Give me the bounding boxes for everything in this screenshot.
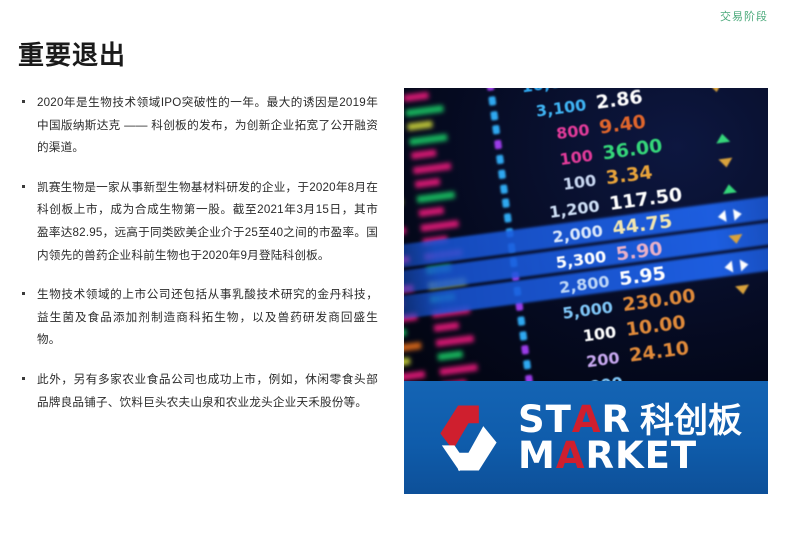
ticker-volume: 10,000: [520, 88, 584, 96]
ticker-trend-arrow: [729, 233, 744, 244]
ticker-trend-arrow: [724, 260, 733, 273]
ticker-trend-arrow: [733, 207, 742, 220]
ticker-volume: 100: [559, 145, 595, 168]
ticker-price: 24.10: [628, 336, 690, 366]
ticker-volume: 800: [555, 120, 591, 143]
stock-ticker-board: 10,00013.603,1002.868009.4010036.001003.…: [404, 88, 768, 381]
list-item: 凯赛生物是一家从事新型生物基材料研发的企业，于2020年8月在科创板上市，成为合…: [18, 177, 378, 267]
blurred-ticker-cell: [421, 219, 460, 231]
ticker-volume: 1,200: [548, 195, 601, 220]
ticker-price: 5.90: [615, 237, 664, 265]
list-item: 2020年是生物技术领域IPO突破性的一年。最大的诱因是2019年中国版纳斯达克…: [18, 92, 378, 160]
ticker-trend-arrow: [717, 210, 726, 223]
blurred-ticker-cell: [411, 149, 437, 159]
blurred-ticker-cell: [438, 350, 464, 360]
blurred-ticker-cell: [404, 341, 422, 352]
blurred-ticker-cell: [413, 161, 452, 173]
blurred-ticker-cell: [405, 104, 444, 116]
ticker-volume: 200: [585, 347, 621, 370]
ticker-price: 3.34: [605, 161, 654, 189]
blurred-ticker-cell: [407, 120, 433, 130]
page-title: 重要退出: [18, 41, 126, 70]
blurred-ticker-cell: [417, 190, 456, 202]
bullet-marker-icon: [22, 292, 25, 295]
blurred-ticker-cell: [436, 334, 475, 346]
list-item: 此外，另有多家农业食品公司也成功上市，例如，休闲零食头部品牌良品铺子、饮料巨头农…: [18, 369, 378, 414]
ticker-volume: 5,000: [561, 297, 614, 322]
list-item-text: 生物技术领域的上市公司还包括从事乳酸技术研究的金丹科技，益生菌及食品添加剂制造商…: [37, 284, 378, 352]
blurred-ticker-cell: [415, 178, 441, 188]
ticker-trend-arrow: [722, 182, 737, 193]
blurred-ticker-cell: [409, 133, 448, 145]
logo-text-a1: A: [572, 402, 602, 438]
ticker-price: 9.40: [598, 110, 647, 138]
list-item-text: 凯赛生物是一家从事新型生物基材料研发的企业，于2020年8月在科创板上市，成为合…: [37, 177, 378, 267]
ticker-trend-arrow: [715, 132, 730, 143]
bullet-marker-icon: [22, 185, 25, 188]
ticker-price: 44.75: [611, 210, 673, 240]
section-tag: 交易阶段: [720, 8, 768, 24]
list-item-text: 2020年是生物技术领域IPO突破性的一年。最大的诱因是2019年中国版纳斯达克…: [37, 92, 378, 160]
ticker-trend-arrow: [740, 258, 749, 271]
blurred-ticker-cell: [404, 328, 407, 337]
blurred-ticker-cell: [404, 226, 407, 237]
bullet-marker-icon: [22, 377, 25, 380]
logo-text-st: ST: [518, 402, 572, 438]
star-market-logo-panel: STAR 科创板 MARKET: [404, 381, 768, 494]
ticker-volume: 10,000: [560, 372, 624, 381]
list-item: 生物技术领域的上市公司还包括从事乳酸技术研究的金丹科技，益生菌及食品添加剂制造商…: [18, 284, 378, 352]
logo-line-1: STAR 科创板: [518, 402, 742, 438]
bullet-list: 2020年是生物技术领域IPO突破性的一年。最大的诱因是2019年中国版纳斯达克…: [18, 92, 378, 431]
blurred-ticker-cell: [434, 321, 460, 331]
ticker-volume: 2,000: [551, 221, 604, 246]
ticker-price: 36.00: [601, 134, 663, 164]
blurred-ticker-cell: [404, 370, 425, 381]
blurred-ticker-cell: [404, 91, 429, 101]
ticker-trend-arrow: [735, 284, 750, 295]
ticker-number-columns: 10,00013.603,1002.868009.4010036.001003.…: [470, 88, 768, 381]
ticker-volume: 2,800: [558, 271, 611, 296]
ticker-volume: 100: [562, 170, 598, 193]
ticker-volume: 5,300: [555, 246, 608, 271]
list-item-text: 此外，另有多家农业食品公司也成功上市，例如，休闲零食头部品牌良品铺子、饮料巨头农…: [37, 369, 378, 414]
star-market-wordmark: STAR 科创板 MARKET: [518, 402, 742, 473]
slide-image: 10,00013.603,1002.868009.4010036.001003.…: [404, 88, 768, 494]
ticker-price: 5.95: [618, 262, 667, 290]
logo-line-2: MARKET: [518, 438, 742, 474]
logo-text-r: R: [602, 402, 632, 438]
logo-text-chinese: 科创板: [640, 405, 742, 438]
ticker-volume: 100: [582, 322, 618, 345]
blurred-ticker-cell: [419, 206, 445, 216]
bullet-marker-icon: [22, 100, 25, 103]
ticker-trend-arrow: [709, 88, 724, 92]
blurred-ticker-cell: [404, 357, 411, 366]
star-market-logo-icon: [430, 401, 504, 475]
ticker-rotated-layer: 10,00013.603,1002.868009.4010036.001003.…: [404, 88, 768, 381]
logo-text-rket: RKET: [585, 438, 697, 474]
ticker-price: 2.86: [595, 88, 644, 113]
ticker-volume: 3,100: [535, 94, 588, 119]
blurred-ticker-cell: [439, 363, 478, 375]
logo-text-a2: A: [556, 438, 586, 474]
logo-text-m: M: [518, 438, 556, 474]
ticker-trend-arrow: [719, 157, 734, 168]
ticker-price: 10.00: [625, 311, 687, 341]
